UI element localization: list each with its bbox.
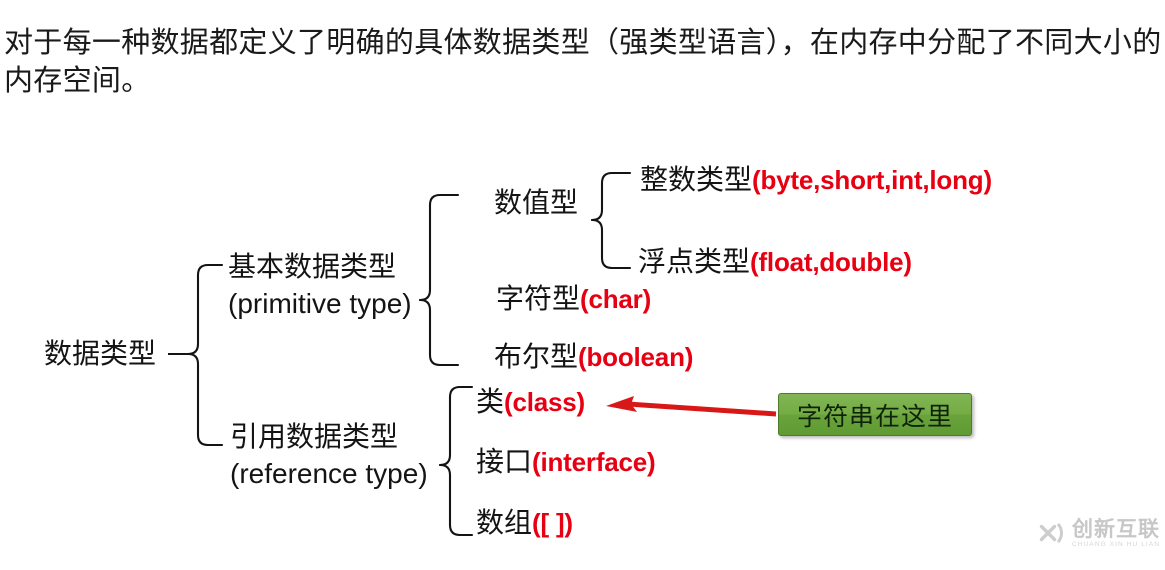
data-type-tree-diagram: 数据类型 基本数据类型 (primitive type) 引用数据类型 (ref… [0, 0, 1165, 570]
node-boolean-type: 布尔型(boolean) [494, 341, 693, 374]
node-float-type-cn: 浮点类型 [638, 247, 750, 278]
node-character-type-en: (char) [580, 284, 651, 314]
node-primitive-type-en: (primitive type) [228, 286, 412, 322]
node-float-type-en: (float,double) [750, 247, 912, 277]
node-interface-type-cn: 接口 [476, 447, 532, 478]
bracket-numeric-top [592, 173, 630, 220]
node-class-type: 类(class) [476, 386, 585, 419]
bracket-reference-bottom [440, 465, 472, 535]
bracket-primitive-bottom [420, 300, 458, 365]
node-character-type: 字符型(char) [496, 283, 651, 316]
node-reference-type: 引用数据类型 (reference type) [230, 420, 428, 492]
watermark-brand-cn: 创新互联 [1072, 518, 1160, 540]
node-class-type-en: (class) [504, 387, 585, 417]
node-interface-type: 接口(interface) [476, 446, 656, 479]
callout-box-label: 字符串在这里 [797, 397, 953, 433]
bracket-level1-bottom [188, 354, 222, 445]
node-float-type: 浮点类型(float,double) [638, 246, 912, 279]
brand-logo-icon [1031, 516, 1065, 550]
node-interface-type-en: (interface) [532, 447, 656, 477]
node-integer-type-cn: 整数类型 [640, 165, 752, 196]
bracket-primitive-top [420, 195, 458, 300]
node-reference-type-en: (reference type) [230, 456, 428, 492]
bracket-numeric-bottom [592, 220, 630, 268]
node-numeric-type-label: 数值型 [494, 188, 578, 219]
callout-arrow-head-icon [606, 396, 637, 412]
callout-arrow-line [628, 404, 776, 414]
node-array-type-en: ([ ]) [532, 508, 573, 538]
node-data-type-label: 数据类型 [44, 339, 156, 370]
node-array-type-cn: 数组 [476, 508, 532, 539]
node-class-type-cn: 类 [476, 387, 504, 418]
node-integer-type: 整数类型(byte,short,int,long) [640, 164, 992, 197]
node-boolean-type-cn: 布尔型 [494, 342, 578, 373]
node-primitive-type-cn: 基本数据类型 [228, 250, 412, 286]
node-character-type-cn: 字符型 [496, 284, 580, 315]
watermark-brand-pinyin: CHUANG XIN HU LIAN [1072, 540, 1160, 549]
node-primitive-type: 基本数据类型 (primitive type) [228, 250, 412, 322]
node-reference-type-cn: 引用数据类型 [230, 420, 428, 456]
node-data-type: 数据类型 [44, 338, 156, 371]
node-array-type: 数组([ ]) [476, 507, 573, 540]
watermark: 创新互联 CHUANG XIN HU LIAN [1031, 516, 1160, 550]
bracket-level1-top [188, 265, 222, 354]
watermark-text-group: 创新互联 CHUANG XIN HU LIAN [1072, 518, 1160, 549]
callout-box: 字符串在这里 [778, 393, 972, 436]
node-numeric-type: 数值型 [494, 187, 578, 220]
node-integer-type-en: (byte,short,int,long) [752, 165, 992, 195]
bracket-reference-top [440, 387, 472, 465]
node-boolean-type-en: (boolean) [578, 342, 693, 372]
